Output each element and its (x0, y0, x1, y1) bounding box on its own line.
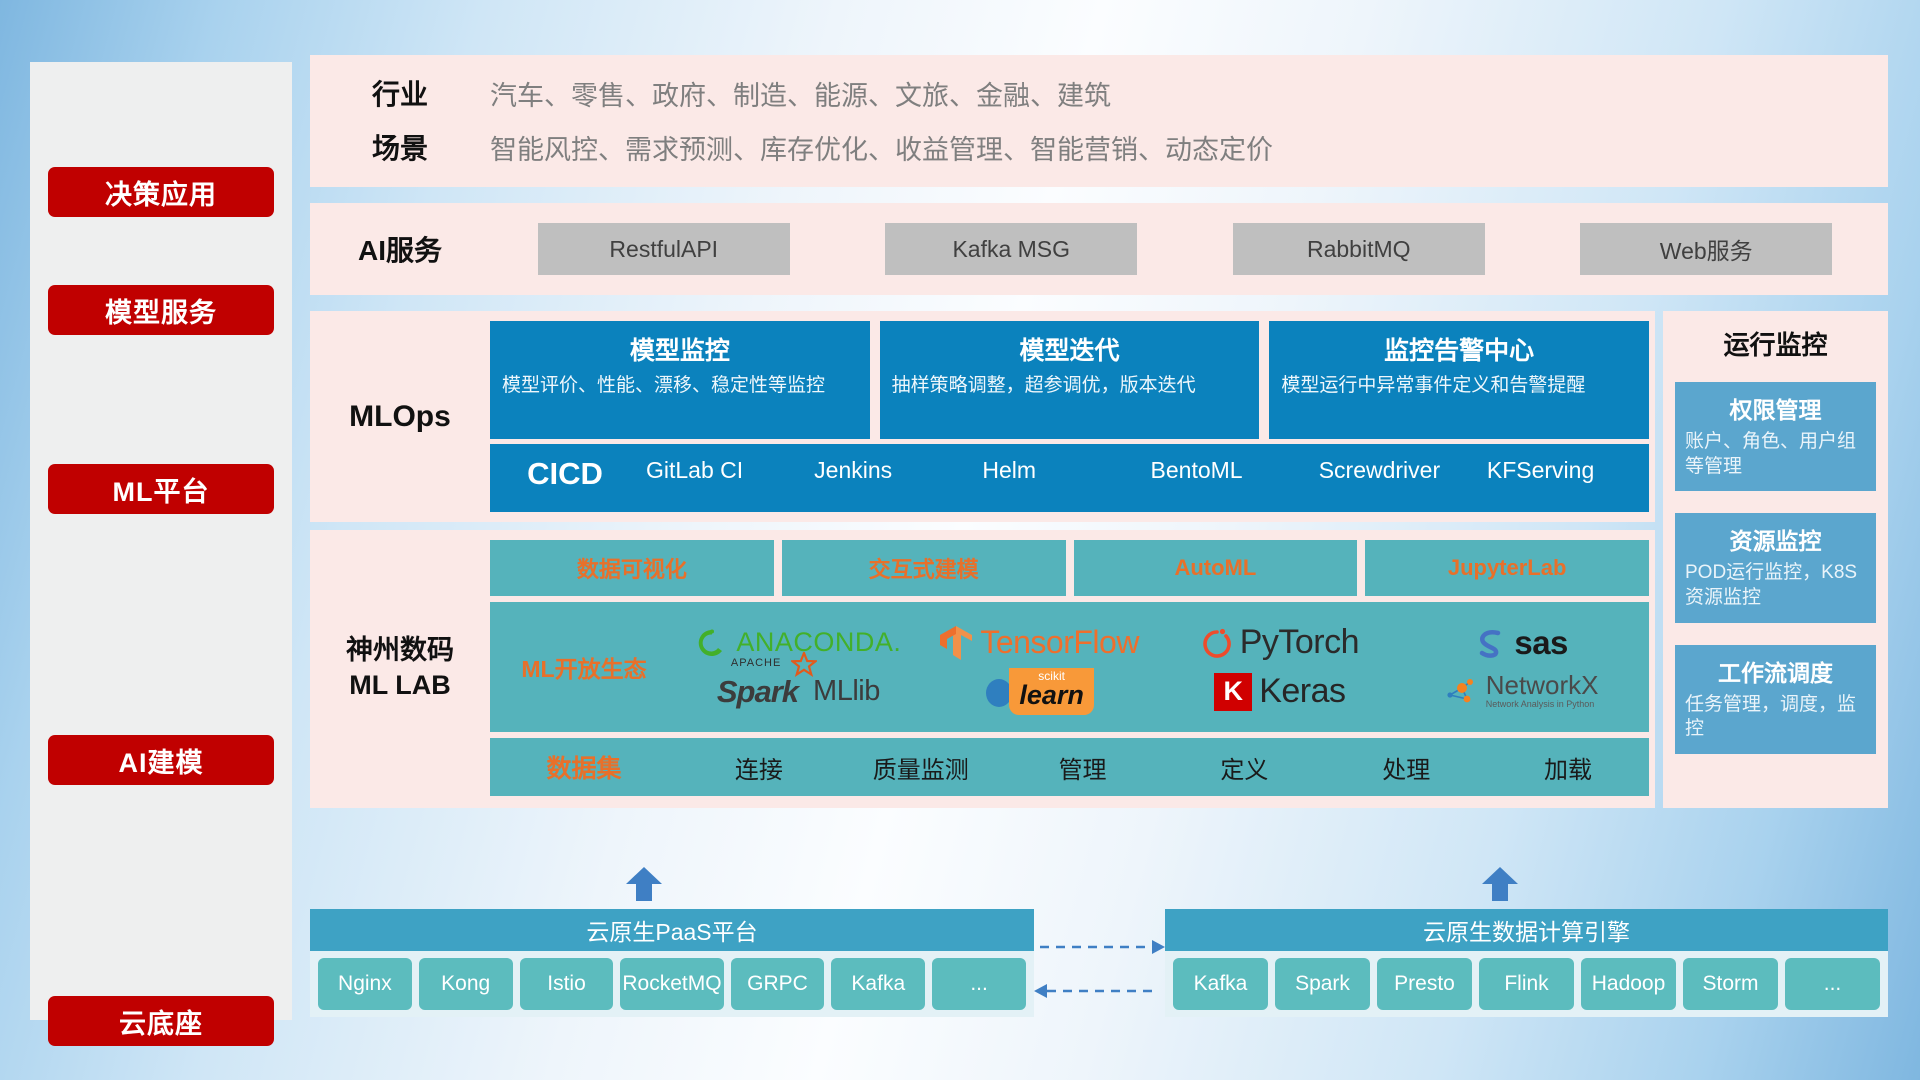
data-engine-pill-spark[interactable]: Spark (1275, 958, 1370, 1010)
tensorflow-mark-icon (939, 624, 973, 662)
spark-star-icon (791, 652, 817, 678)
paas-pill-rocketmq[interactable]: RocketMQ (620, 958, 723, 1010)
data-engine-pill-flink[interactable]: Flink (1479, 958, 1574, 1010)
mlops-card-model-iteration[interactable]: 模型迭代 抽样策略调整，超参调优，版本迭代 (880, 321, 1260, 439)
ops-card-desc: 任务管理，调度，监控 (1685, 693, 1866, 742)
spark-mllib-logo: APACHE Spark MLlib (717, 674, 880, 710)
stack-layer-rail: 决策应用 模型服务 ML平台 AI建模 云底座 (30, 62, 292, 1020)
mlops-card-model-monitor[interactable]: 模型监控 模型评价、性能、漂移、稳定性等监控 (490, 321, 870, 439)
up-arrow-paas-icon (622, 867, 666, 901)
scenario-key: 场景 (310, 127, 490, 167)
ops-card-title: 资源监控 (1685, 522, 1866, 556)
rail-chip-decision-app[interactable]: 决策应用 (48, 167, 274, 217)
data-engine-pill-list: Kafka Spark Presto Flink Hadoop Storm ..… (1165, 951, 1888, 1017)
data-engine-pill-presto[interactable]: Presto (1377, 958, 1472, 1010)
ml-ecosystem-label: ML开放生态 (490, 650, 678, 684)
up-arrow-data-engine-icon (1478, 867, 1522, 901)
paas-stack: 云原生PaaS平台 Nginx Kong Istio RocketMQ GRPC… (310, 909, 1034, 1017)
bidirectional-link-arrows-icon (1034, 935, 1165, 1007)
paas-pill-more[interactable]: ... (932, 958, 1026, 1010)
ai-service-chip-restfulapi[interactable]: RestfulAPI (538, 223, 790, 275)
anaconda-mark-icon (695, 626, 729, 660)
paas-stack-title: 云原生PaaS平台 (310, 909, 1034, 951)
scenario-row: 场景 智能风控、需求预测、库存优化、收益管理、智能营销、动态定价 (310, 127, 1888, 167)
platform-left-column: MLOps 模型监控 模型评价、性能、漂移、稳定性等监控 模型迭代 抽样策略调整… (310, 311, 1655, 808)
ops-card-resource[interactable]: 资源监控 POD运行监控，K8S资源监控 (1675, 513, 1876, 622)
ml-lab-band: 神州数码 ML LAB 数据可视化 交互式建模 AutoML JupyterLa… (310, 530, 1655, 808)
platform-middle-block: MLOps 模型监控 模型评价、性能、漂移、稳定性等监控 模型迭代 抽样策略调整… (310, 311, 1888, 808)
mlops-card-title: 模型迭代 (892, 331, 1248, 367)
ai-service-band: AI服务 RestfulAPI Kafka MSG RabbitMQ Web服务 (310, 203, 1888, 295)
anaconda-wordmark: ANACONDA. (736, 627, 901, 658)
mlops-card-alert-center[interactable]: 监控告警中心 模型运行中异常事件定义和告警提醒 (1269, 321, 1649, 439)
rail-chip-label: 决策应用 (105, 173, 217, 212)
cicd-item-helm[interactable]: Helm (976, 456, 1144, 485)
paas-pill-grpc[interactable]: GRPC (731, 958, 825, 1010)
data-engine-stack: 云原生数据计算引擎 Kafka Spark Presto Flink Hadoo… (1165, 909, 1888, 1017)
ml-lab-body: 数据可视化 交互式建模 AutoML JupyterLab ML开放生态 (490, 540, 1655, 796)
data-engine-pill-storm[interactable]: Storm (1683, 958, 1778, 1010)
ops-card-desc: 账户、角色、用户组等管理 (1685, 430, 1866, 479)
ml-lab-key: 神州数码 ML LAB (310, 540, 490, 796)
dataset-item-list: 连接 质量监测 管理 定义 处理 加载 (678, 750, 1649, 785)
ml-lab-tab-interactive-modeling[interactable]: 交互式建模 (782, 540, 1066, 596)
ai-service-chip-rabbitmq[interactable]: RabbitMQ (1233, 223, 1485, 275)
data-engine-pill-more[interactable]: ... (1785, 958, 1880, 1010)
scenario-value: 智能风控、需求预测、库存优化、收益管理、智能营销、动态定价 (490, 128, 1273, 167)
paas-pill-nginx[interactable]: Nginx (318, 958, 412, 1010)
apache-label: APACHE (731, 657, 781, 669)
paas-pill-kong[interactable]: Kong (419, 958, 513, 1010)
ml-lab-key-line1: 神州数码 (346, 633, 454, 668)
cicd-item-bentoml[interactable]: BentoML (1145, 456, 1313, 485)
ml-ecosystem-logo-grid: ANACONDA. TensorFlow (678, 619, 1649, 715)
rail-chip-label: ML平台 (113, 470, 210, 509)
data-engine-pill-kafka[interactable]: Kafka (1173, 958, 1268, 1010)
pytorch-wordmark: PyTorch (1240, 623, 1359, 662)
scikit-learn-logo: scikit learn (984, 668, 1094, 715)
pytorch-logo: PyTorch (1201, 623, 1359, 662)
ops-card-title: 权限管理 (1685, 391, 1866, 425)
ml-lab-tab-jupyterlab[interactable]: JupyterLab (1365, 540, 1649, 596)
industry-value: 汽车、零售、政府、制造、能源、文旅、金融、建筑 (490, 74, 1111, 113)
mlops-card-title: 监控告警中心 (1281, 331, 1637, 367)
ops-card-desc: POD运行监控，K8S资源监控 (1685, 561, 1866, 610)
dataset-label: 数据集 (490, 749, 678, 785)
mlops-body: 模型监控 模型评价、性能、漂移、稳定性等监控 模型迭代 抽样策略调整，超参调优，… (490, 321, 1655, 512)
ops-monitor-title: 运行监控 (1675, 325, 1876, 362)
architecture-main-column: 行业 汽车、零售、政府、制造、能源、文旅、金融、建筑 场景 智能风控、需求预测、… (310, 55, 1888, 808)
cloud-base-block: 云原生PaaS平台 Nginx Kong Istio RocketMQ GRPC… (310, 893, 1888, 1035)
cicd-item-kfserving[interactable]: KFServing (1481, 456, 1649, 485)
mlops-card-desc: 抽样策略调整，超参调优，版本迭代 (892, 373, 1248, 398)
learn-wordmark: learn (1019, 682, 1084, 709)
ml-lab-key-line2: ML LAB (349, 668, 451, 703)
ops-card-permission[interactable]: 权限管理 账户、角色、用户组等管理 (1675, 382, 1876, 491)
networkx-mark-icon (1443, 675, 1479, 709)
keras-mark-icon: K (1214, 673, 1252, 711)
mlops-band: MLOps 模型监控 模型评价、性能、漂移、稳定性等监控 模型迭代 抽样策略调整… (310, 311, 1655, 522)
data-engine-pill-hadoop[interactable]: Hadoop (1581, 958, 1676, 1010)
cicd-item-gitlab-ci[interactable]: GitLab CI (640, 456, 808, 485)
sas-logo: sas (1473, 624, 1568, 662)
mlops-card-desc: 模型评价、性能、漂移、稳定性等监控 (502, 373, 858, 398)
mlops-card-list: 模型监控 模型评价、性能、漂移、稳定性等监控 模型迭代 抽样策略调整，超参调优，… (490, 321, 1649, 439)
dataset-item-manage[interactable]: 管理 (1002, 750, 1164, 785)
rail-chip-label: AI建模 (119, 741, 204, 780)
ai-service-chip-web-service[interactable]: Web服务 (1580, 223, 1832, 275)
rail-chip-label: 云底座 (119, 1002, 203, 1041)
ml-ecosystem-strip: ML开放生态 ANACONDA. (490, 602, 1649, 732)
paas-pill-istio[interactable]: Istio (520, 958, 614, 1010)
paas-pill-kafka[interactable]: Kafka (831, 958, 925, 1010)
dataset-item-connect[interactable]: 连接 (678, 750, 840, 785)
sas-mark-icon (1473, 626, 1507, 660)
rail-chip-ml-platform[interactable]: ML平台 (48, 464, 274, 514)
keras-mark-letter: K (1223, 676, 1243, 707)
rail-chip-cloud-base[interactable]: 云底座 (48, 996, 274, 1046)
ai-service-chip-kafka-msg[interactable]: Kafka MSG (885, 223, 1137, 275)
spark-wordmark: Spark (717, 674, 798, 710)
data-engine-stack-title: 云原生数据计算引擎 (1165, 909, 1888, 951)
ops-card-title: 工作流调度 (1685, 654, 1866, 688)
sas-wordmark: sas (1514, 624, 1568, 662)
cicd-item-list: GitLab CI Jenkins Helm BentoML Screwdriv… (640, 456, 1649, 485)
dataset-item-define[interactable]: 定义 (1163, 750, 1325, 785)
keras-wordmark: Keras (1259, 672, 1345, 711)
keras-logo: K Keras (1214, 672, 1345, 711)
ml-lab-tab-automl[interactable]: AutoML (1074, 540, 1358, 596)
mlops-key: MLOps (310, 321, 490, 512)
networkx-logo: NetworkX Network Analysis in Python (1443, 672, 1599, 712)
mlops-card-title: 模型监控 (502, 331, 858, 367)
cicd-strip: CICD GitLab CI Jenkins Helm BentoML Scre… (490, 444, 1649, 512)
ai-service-key: AI服务 (310, 229, 490, 269)
industry-key: 行业 (310, 73, 490, 113)
dataset-item-process[interactable]: 处理 (1325, 750, 1487, 785)
networkx-wordmark: NetworkX (1486, 672, 1599, 698)
tensorflow-wordmark: TensorFlow (980, 624, 1139, 661)
industry-row: 行业 汽车、零售、政府、制造、能源、文旅、金融、建筑 (310, 73, 1888, 113)
dataset-strip: 数据集 连接 质量监测 管理 定义 处理 加载 (490, 738, 1649, 796)
dataset-item-quality-monitor[interactable]: 质量监测 (840, 750, 1002, 785)
mllib-wordmark: MLlib (813, 675, 880, 708)
ops-monitor-rail: 运行监控 权限管理 账户、角色、用户组等管理 资源监控 POD运行监控，K8S资… (1663, 311, 1888, 808)
ai-service-chip-list: RestfulAPI Kafka MSG RabbitMQ Web服务 (490, 223, 1888, 275)
tensorflow-logo: TensorFlow (939, 624, 1139, 662)
mlops-card-desc: 模型运行中异常事件定义和告警提醒 (1281, 373, 1637, 398)
cicd-item-jenkins[interactable]: Jenkins (808, 456, 976, 485)
paas-pill-list: Nginx Kong Istio RocketMQ GRPC Kafka ... (310, 951, 1034, 1017)
cicd-item-screwdriver[interactable]: Screwdriver (1313, 456, 1481, 485)
rail-chip-ai-modeling[interactable]: AI建模 (48, 735, 274, 785)
pytorch-mark-icon (1201, 625, 1233, 661)
ml-lab-tab-data-viz[interactable]: 数据可视化 (490, 540, 774, 596)
cicd-title: CICD (490, 456, 640, 492)
rail-chip-label: 模型服务 (105, 291, 217, 330)
dataset-item-load[interactable]: 加载 (1487, 750, 1649, 785)
ops-card-workflow[interactable]: 工作流调度 任务管理，调度，监控 (1675, 645, 1876, 754)
industry-scenario-band: 行业 汽车、零售、政府、制造、能源、文旅、金融、建筑 场景 智能风控、需求预测、… (310, 55, 1888, 187)
ml-lab-tab-list: 数据可视化 交互式建模 AutoML JupyterLab (490, 540, 1649, 596)
networkx-tagline: Network Analysis in Python (1486, 698, 1599, 712)
rail-chip-model-service[interactable]: 模型服务 (48, 285, 274, 335)
